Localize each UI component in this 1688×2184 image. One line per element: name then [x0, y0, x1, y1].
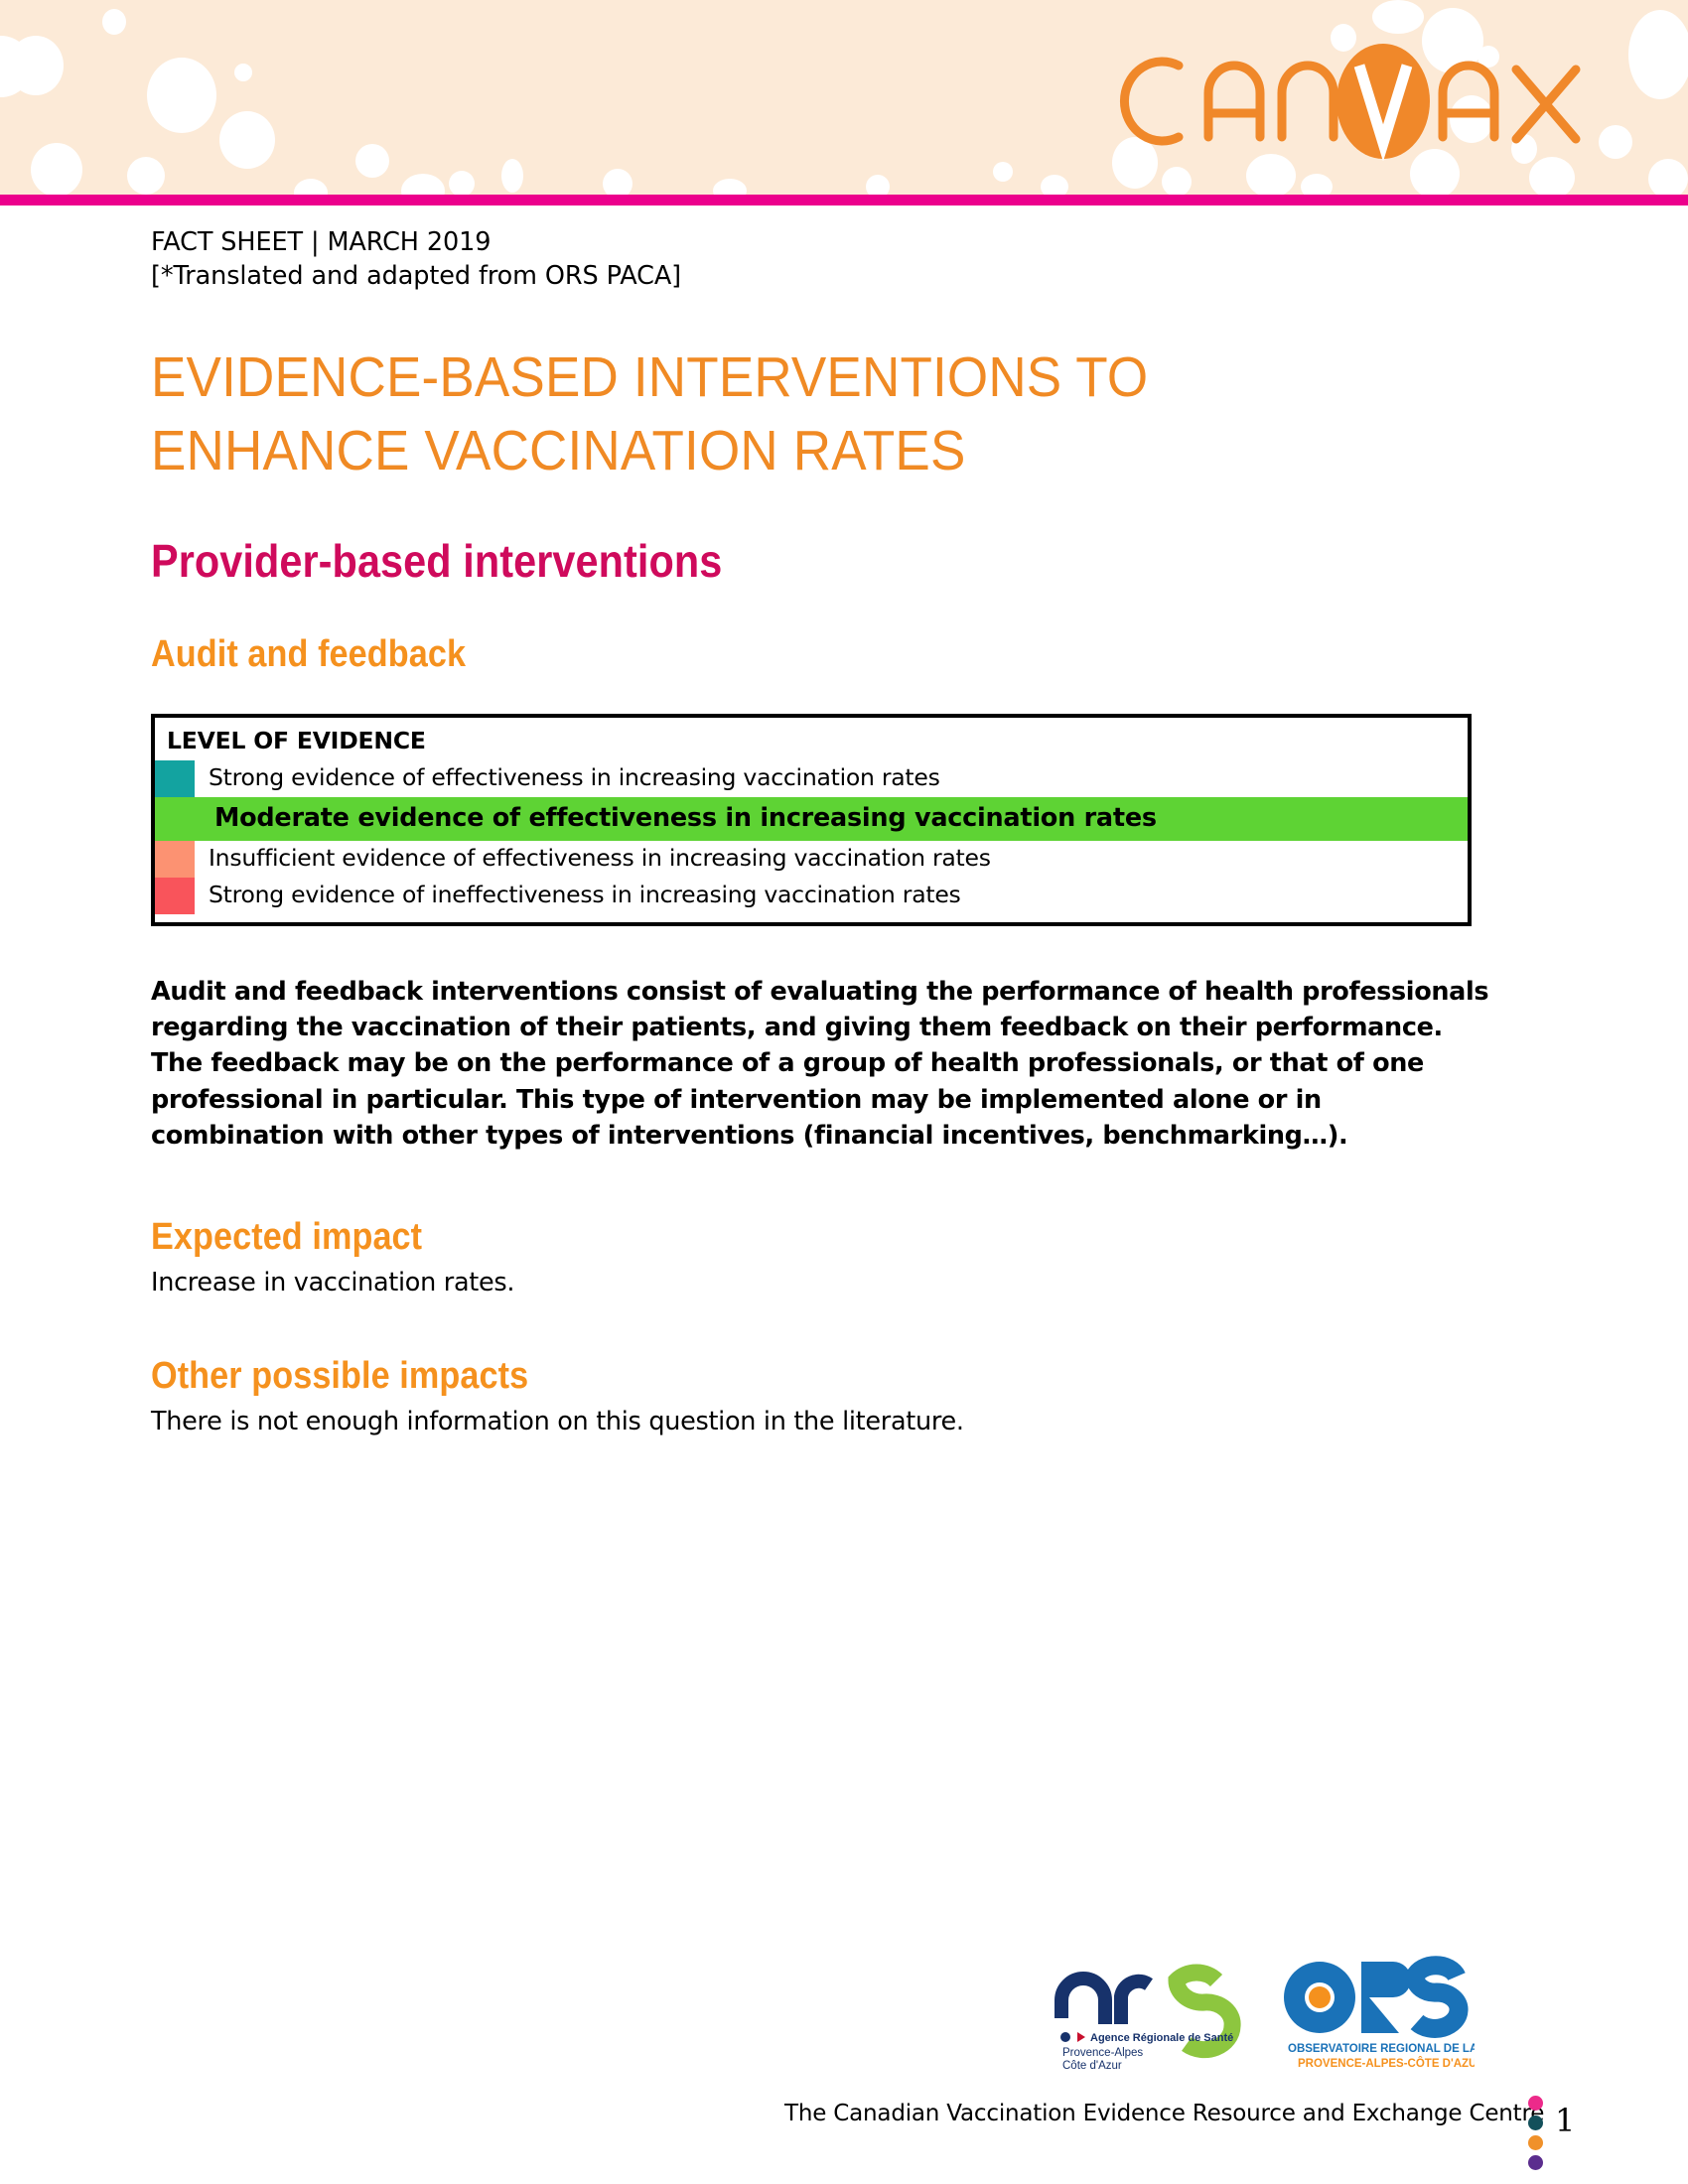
decorative-bubble: [993, 162, 1013, 182]
evidence-swatch-red: [155, 878, 195, 914]
page-subtitle: Provider-based interventions: [151, 534, 1339, 588]
decorative-bubble: [147, 58, 216, 133]
canvax-logo: [1117, 22, 1633, 161]
other-impacts-body: There is not enough information on this …: [151, 1407, 1472, 1436]
decorative-bubble: [31, 143, 82, 195]
decorative-bubble: [355, 144, 389, 178]
decorative-bubble: [234, 64, 252, 81]
evidence-row-label: Moderate evidence of effectiveness in in…: [195, 797, 1157, 841]
magenta-accent-bar: [0, 195, 1688, 205]
svg-text:Provence-Alpes: Provence-Alpes: [1062, 2047, 1143, 2059]
decorative-bubble: [449, 171, 475, 195]
decorative-bubble: [1162, 167, 1192, 195]
evidence-row-strong-effectiveness: Strong evidence of effectiveness in incr…: [155, 760, 1468, 797]
section-heading-expected-impact: Expected impact: [151, 1216, 1339, 1259]
evidence-row-label: Strong evidence of ineffectiveness in in…: [195, 878, 961, 914]
header-banner: [0, 0, 1688, 195]
dot-magenta: [1528, 2096, 1543, 2111]
decorative-bubble: [1529, 157, 1575, 195]
svg-text:Agence Régionale de Santé: Agence Régionale de Santé: [1090, 2032, 1233, 2044]
dot-teal: [1528, 2116, 1543, 2130]
evidence-box-title: LEVEL OF EVIDENCE: [155, 718, 1468, 760]
page-number: 1: [1555, 2102, 1575, 2139]
decorative-bubble: [219, 111, 275, 169]
decorative-bubble: [1301, 174, 1333, 195]
decorative-bubble: [501, 159, 523, 193]
evidence-row-strong-ineffectiveness: Strong evidence of ineffectiveness in in…: [155, 878, 1468, 914]
evidence-row-insufficient-evidence: Insufficient evidence of effectiveness i…: [155, 841, 1468, 878]
footer-logos: Agence Régionale de Santé Provence-Alpes…: [1038, 1941, 1514, 2075]
svg-text:Côte d'Azur: Côte d'Azur: [1062, 2060, 1122, 2070]
document-content: FACT SHEET | MARCH 2019 [*Translated and…: [0, 205, 1688, 1436]
evidence-swatch-salmon: [155, 841, 195, 878]
description-paragraph: Audit and feedback interventions consist…: [151, 974, 1501, 1155]
decorative-bubble: [1041, 175, 1068, 195]
page-title: EVIDENCE-BASED INTERVENTIONS TO ENHANCE …: [151, 341, 1379, 487]
svg-text:OBSERVATOIRE REGIONAL DE LA SA: OBSERVATOIRE REGIONAL DE LA SANTE: [1288, 2043, 1475, 2055]
section-heading-audit-and-feedback: Audit and feedback: [151, 633, 1339, 676]
footer-dot-cluster: [1528, 2096, 1545, 2169]
ars-logo: Agence Régionale de Santé Provence-Alpes…: [1038, 1941, 1246, 2070]
expected-impact-body: Increase in vaccination rates.: [151, 1268, 1472, 1297]
svg-text:PROVENCE-ALPES-CÔTE D'AZUR: PROVENCE-ALPES-CÔTE D'AZUR: [1298, 2057, 1475, 2070]
evidence-row-label: Strong evidence of effectiveness in incr…: [195, 760, 940, 797]
decorative-bubble: [1648, 159, 1688, 195]
decorative-bubble: [1628, 10, 1688, 99]
translation-note: [*Translated and adapted from ORS PACA]: [151, 259, 1472, 293]
evidence-swatch-teal: [155, 760, 195, 797]
evidence-row-moderate-effectiveness: Moderate evidence of effectiveness in in…: [155, 797, 1468, 841]
section-heading-other-possible-impacts: Other possible impacts: [151, 1355, 1339, 1398]
fact-sheet-date: FACT SHEET | MARCH 2019: [151, 225, 1472, 259]
document-meta: FACT SHEET | MARCH 2019 [*Translated and…: [151, 225, 1472, 293]
decorative-bubble: [713, 179, 747, 195]
decorative-bubble: [127, 157, 165, 195]
decorative-bubble: [8, 36, 64, 95]
ors-logo: OBSERVATOIRE REGIONAL DE LA SANTE PROVEN…: [1276, 1941, 1475, 2070]
dot-purple: [1528, 2155, 1543, 2170]
evidence-row-label: Insufficient evidence of effectiveness i…: [195, 841, 991, 878]
decorative-bubble: [102, 9, 126, 35]
evidence-swatch-green: [155, 797, 195, 841]
level-of-evidence-box: LEVEL OF EVIDENCE Strong evidence of eff…: [151, 714, 1472, 926]
evidence-box-bottom-spacer: [155, 914, 1468, 922]
decorative-bubble: [866, 175, 890, 195]
decorative-bubble: [603, 169, 633, 195]
page-footer: The Canadian Vaccination Evidence Resour…: [0, 2090, 1688, 2149]
decorative-bubble: [294, 179, 328, 195]
footer-organization-text: The Canadian Vaccination Evidence Resour…: [784, 2101, 1544, 2126]
decorative-bubble: [401, 174, 445, 195]
dot-orange: [1528, 2135, 1543, 2150]
